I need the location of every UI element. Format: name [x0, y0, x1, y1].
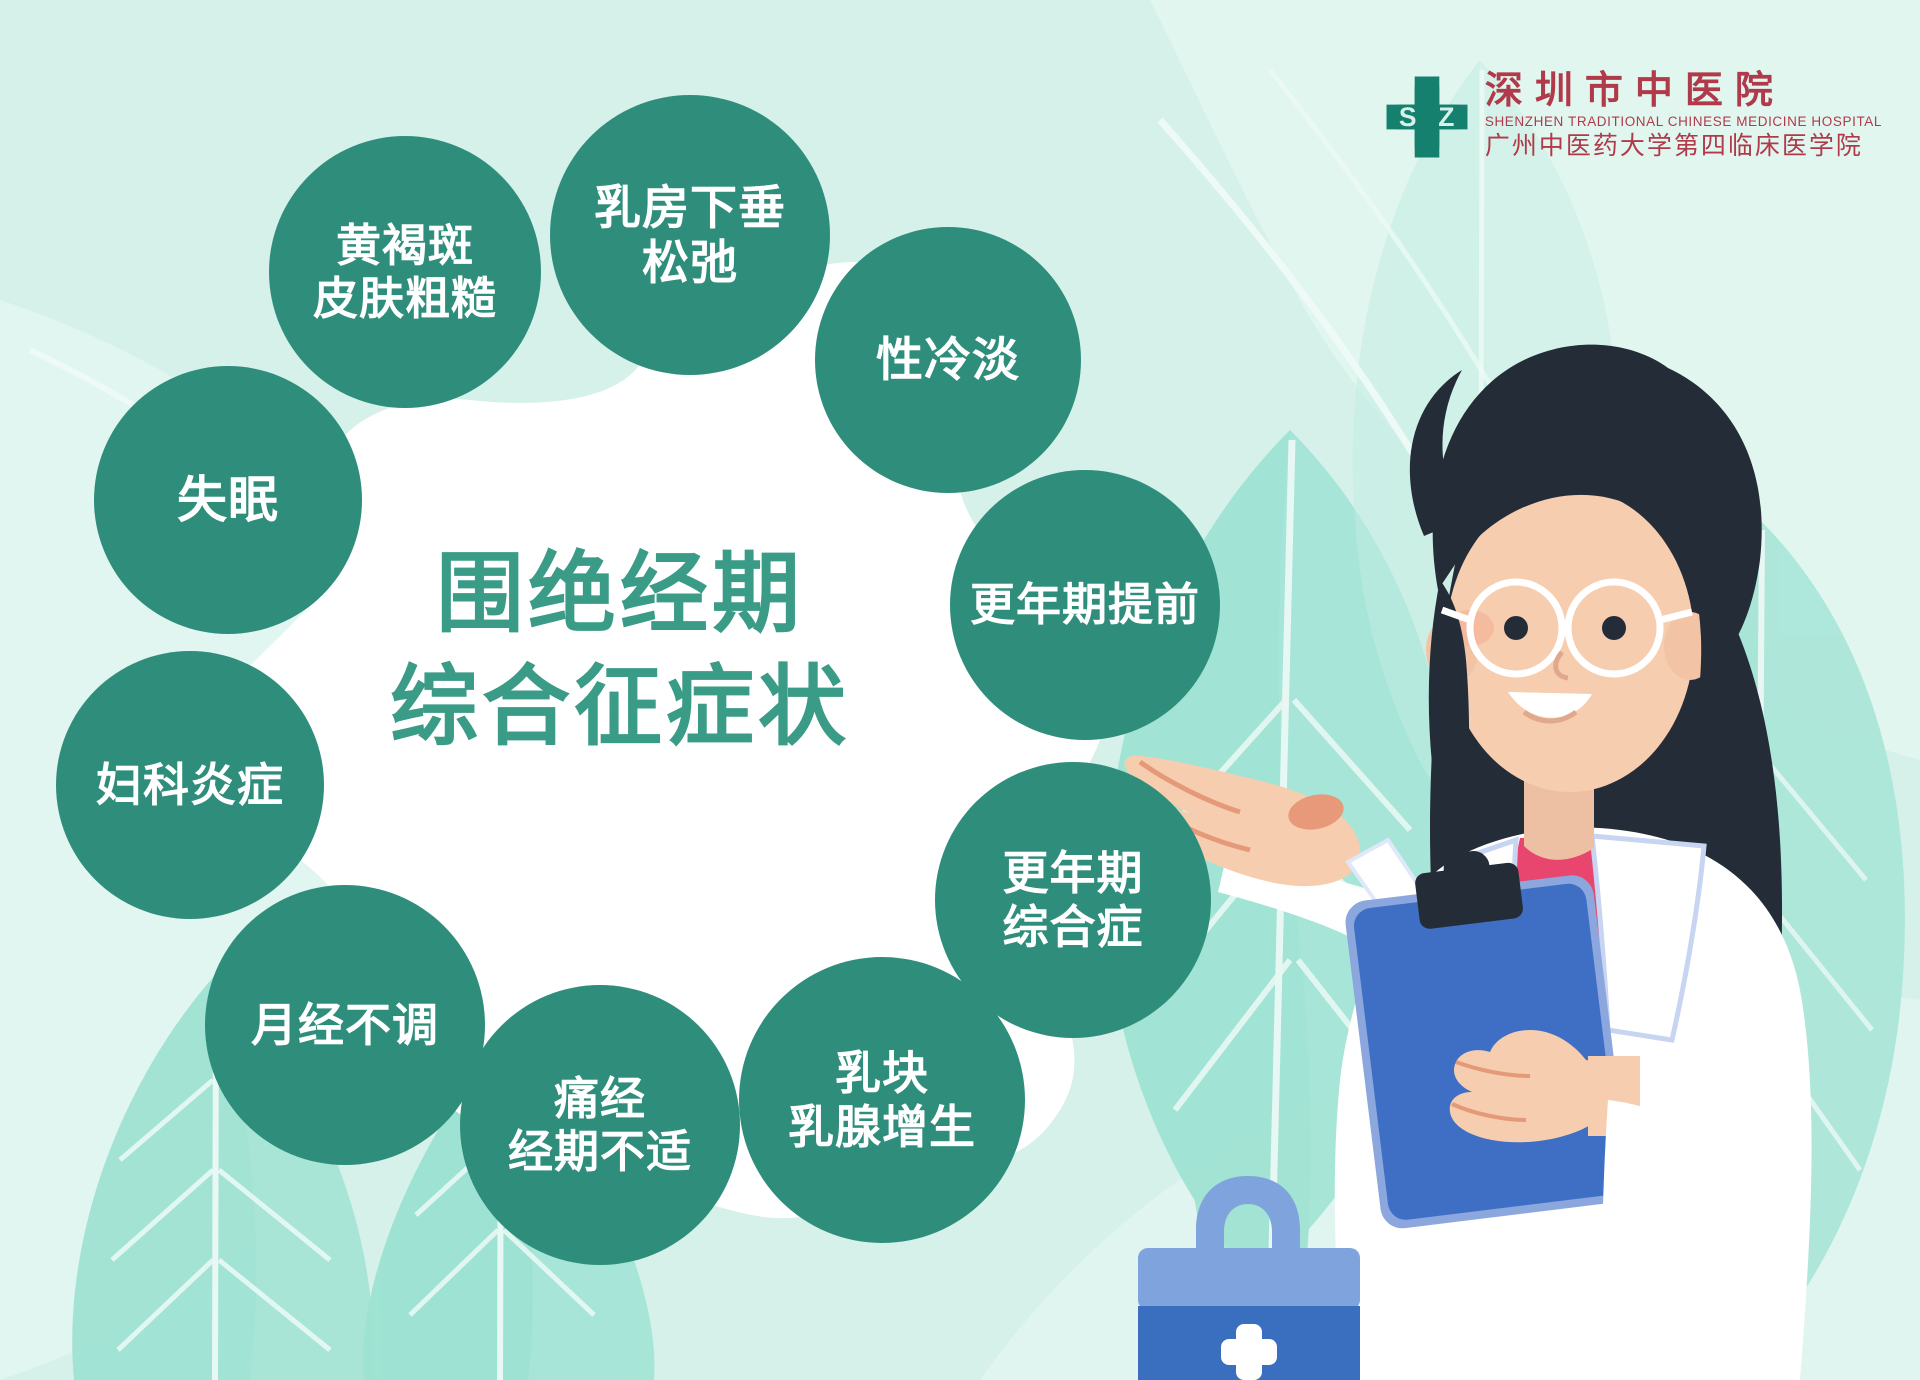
symptom-bubble-group: 乳房下垂 松弛 黄褐斑 皮肤粗糙 失眠 妇科炎症 月经不调 痛经 经期不适 乳块… [0, 0, 1920, 1380]
symptom-label: 更年期 综合症 [1003, 846, 1144, 955]
hospital-logo-text: 深圳市中医院 SHENZHEN TRADITIONAL CHINESE MEDI… [1485, 72, 1882, 162]
symptom-label: 性冷淡 [876, 332, 1020, 387]
symptom-bubble-gynecological[interactable]: 妇科炎症 [56, 651, 324, 919]
page-title: 围绝经期 综合征症状 [330, 540, 910, 761]
medical-cross-logo-icon: S Z [1383, 73, 1471, 161]
page-title-line-2: 综合征症状 [330, 653, 910, 760]
symptom-label: 月经不调 [251, 998, 439, 1052]
symptom-bubble-insomnia[interactable]: 失眠 [94, 366, 362, 634]
symptom-bubble-irregular-menses[interactable]: 月经不调 [205, 885, 485, 1165]
symptom-bubble-chloasma[interactable]: 黄褐斑 皮肤粗糙 [269, 136, 541, 408]
symptom-bubble-frigidity[interactable]: 性冷淡 [815, 227, 1081, 493]
page-title-line-1: 围绝经期 [330, 540, 910, 647]
symptom-label: 乳块 乳腺增生 [788, 1046, 976, 1155]
symptom-label: 黄褐斑 皮肤粗糙 [313, 219, 497, 325]
svg-text:Z: Z [1438, 102, 1454, 132]
symptom-bubble-menopause-syndrome[interactable]: 更年期 综合症 [935, 762, 1211, 1038]
symptom-label: 乳房下垂 松弛 [594, 180, 786, 291]
symptom-bubble-breast-sagging[interactable]: 乳房下垂 松弛 [550, 95, 830, 375]
symptom-label: 更年期提前 [970, 578, 1200, 631]
symptom-label: 痛经 经期不适 [508, 1072, 692, 1178]
symptom-bubble-early-menopause[interactable]: 更年期提前 [950, 470, 1220, 740]
symptom-label: 妇科炎症 [96, 758, 284, 812]
hospital-name-cn: 深圳市中医院 [1485, 72, 1785, 112]
hospital-affiliation-cn: 广州中医药大学第四临床医学院 [1485, 132, 1863, 162]
hospital-name-en: SHENZHEN TRADITIONAL CHINESE MEDICINE HO… [1485, 112, 1882, 132]
symptom-label: 失眠 [177, 471, 279, 530]
infographic-canvas: 乳房下垂 松弛 黄褐斑 皮肤粗糙 失眠 妇科炎症 月经不调 痛经 经期不适 乳块… [0, 0, 1920, 1380]
symptom-bubble-dysmenorrhea[interactable]: 痛经 经期不适 [460, 985, 740, 1265]
svg-text:S: S [1399, 102, 1417, 132]
hospital-logo: S Z 深圳市中医院 SHENZHEN TRADITIONAL CHINESE … [1383, 72, 1882, 162]
